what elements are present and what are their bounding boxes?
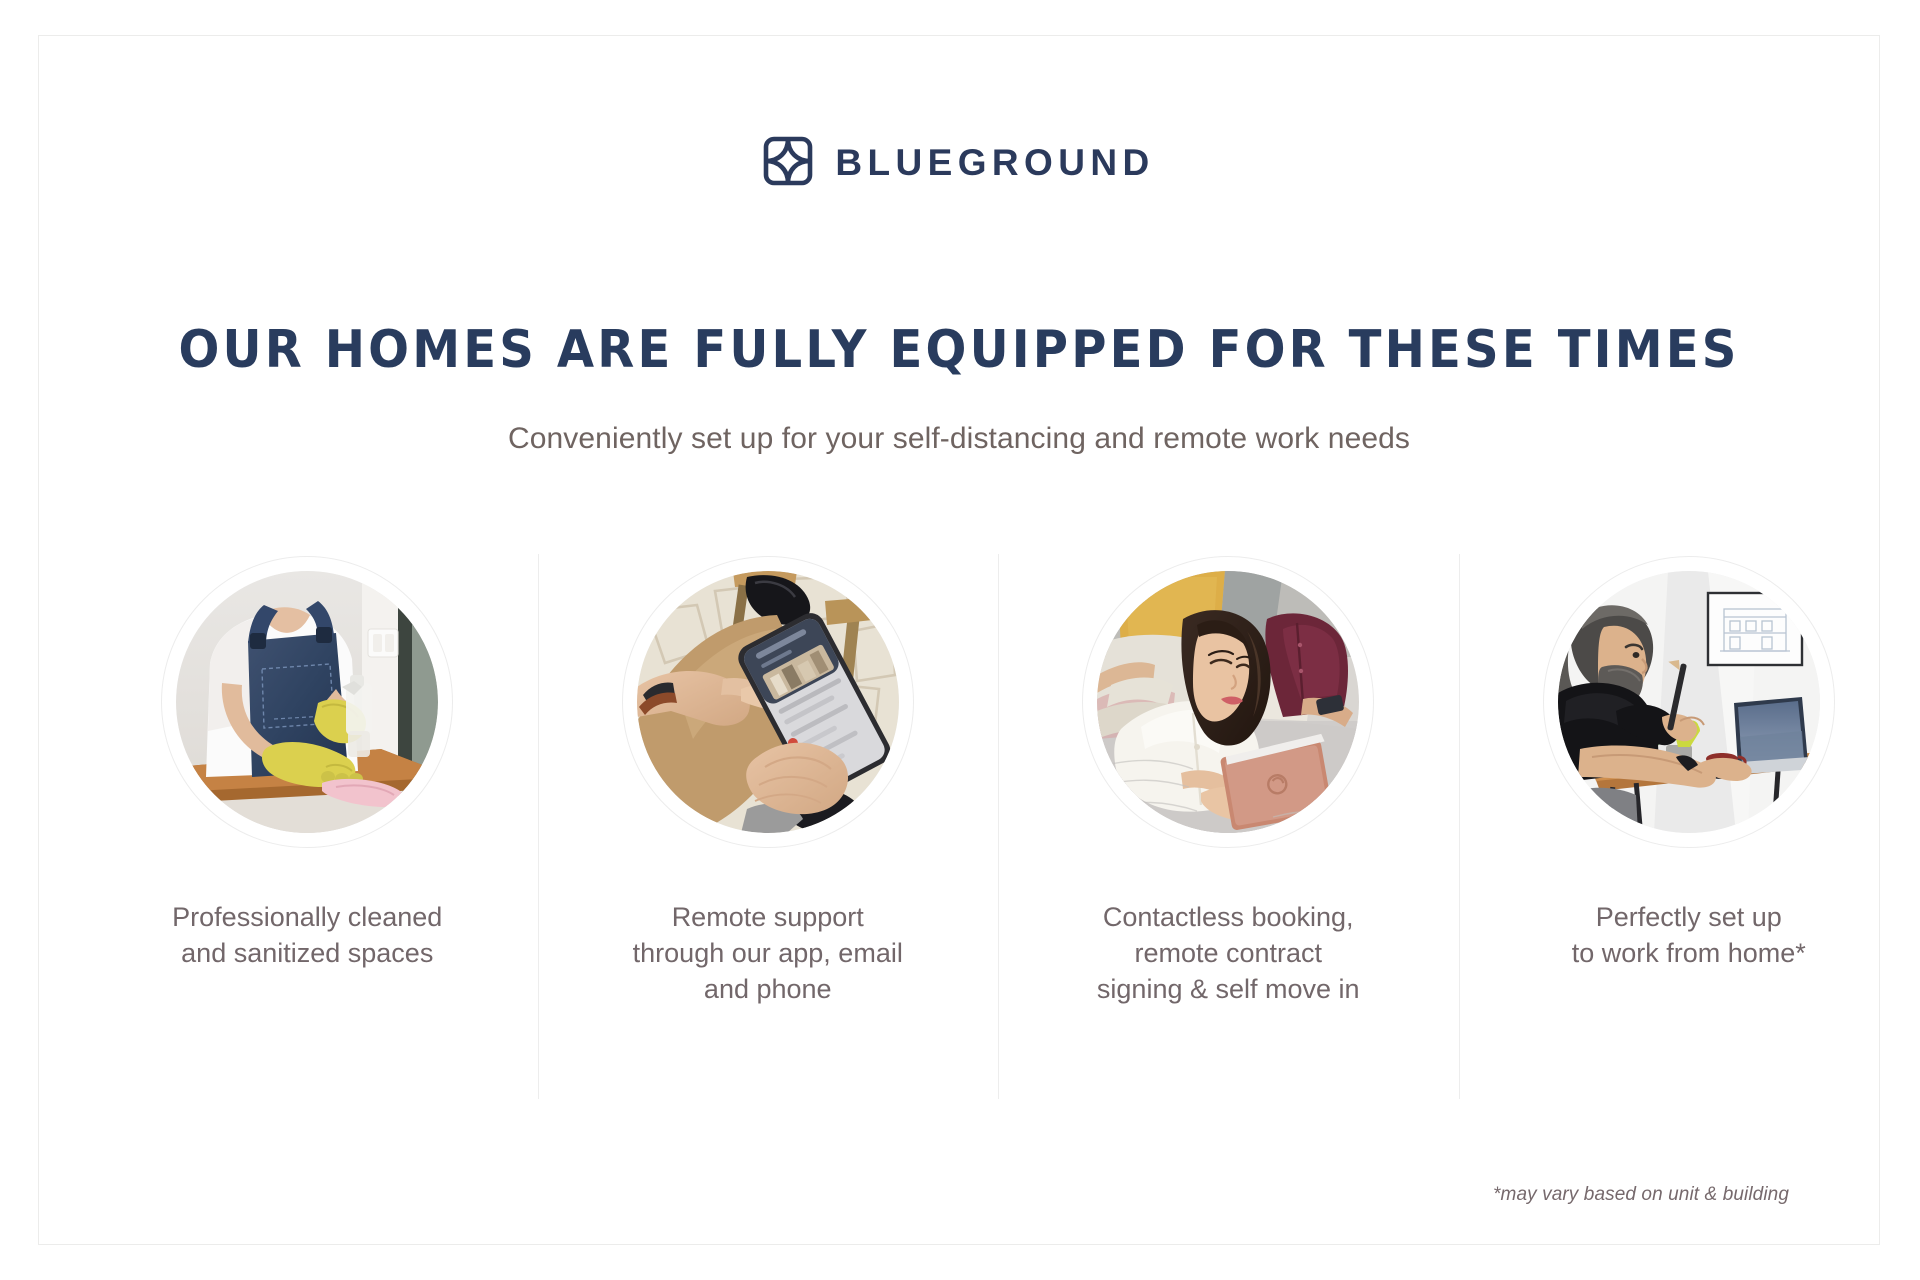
feature-item: Perfectly set up to work from home* [1459,554,1920,1099]
page-subtitle: Conveniently set up for your self-distan… [39,421,1879,457]
feature-item: Professionally cleaned and sanitized spa… [77,554,538,1099]
poster-frame: BLUEGROUND OUR HOMES ARE FULLY EQUIPPED … [38,35,1880,1245]
feature-caption: Remote support through our app, email an… [633,900,903,1008]
brand-header: BLUEGROUND [39,136,1879,186]
photo-ring [1082,556,1374,848]
feature-grid: Professionally cleaned and sanitized spa… [77,554,1919,1099]
feature-item: Contactless booking, remote contract sig… [998,554,1459,1099]
photo-remote-support-phone [637,571,899,833]
feature-item: Remote support through our app, email an… [538,554,999,1099]
page-title: OUR HOMES ARE FULLY EQUIPPED FOR THESE T… [108,323,1810,378]
photo-ring [1543,556,1835,848]
blueground-logo-mark-icon [763,136,813,186]
footnote-disclaimer: *may vary based on unit & building [1493,1184,1789,1206]
brand-wordmark: BLUEGROUND [835,142,1154,181]
photo-cleaning-professional [176,571,438,833]
poster-page: BLUEGROUND OUR HOMES ARE FULLY EQUIPPED … [0,0,1920,1280]
feature-caption: Contactless booking, remote contract sig… [1097,900,1360,1008]
feature-caption: Perfectly set up to work from home* [1572,900,1806,972]
photo-contactless-booking-tablet [1097,571,1359,833]
photo-ring [622,556,914,848]
photo-work-from-home-desk [1558,571,1820,833]
photo-ring [161,556,453,848]
feature-caption: Professionally cleaned and sanitized spa… [172,900,442,972]
